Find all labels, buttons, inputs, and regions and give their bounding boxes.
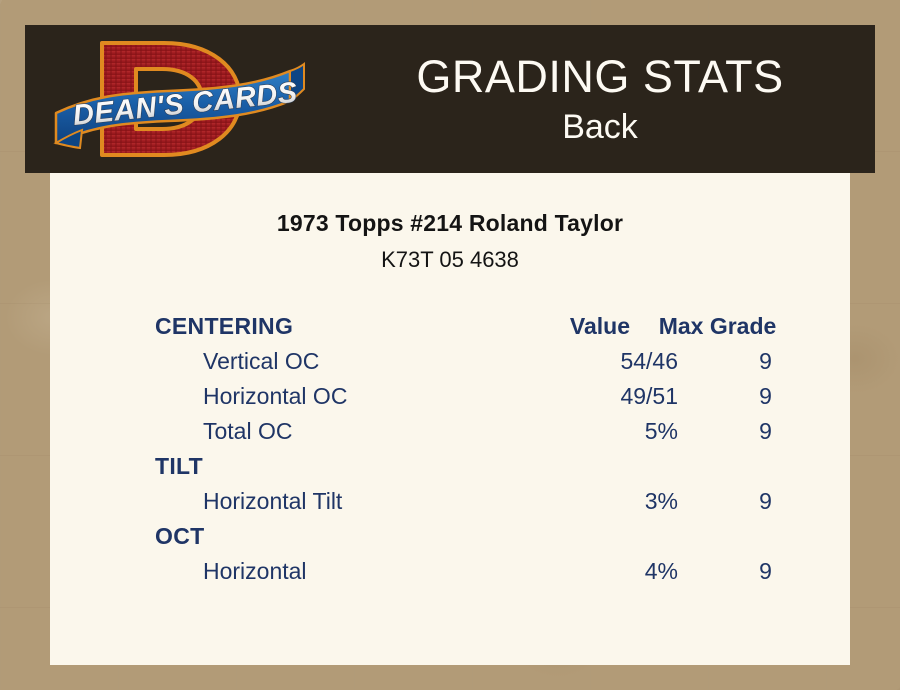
grading-stats-table: CENTERING Value Max Grade Vertical OC 54… [50,309,850,589]
row-value-total-oc: 5% [533,414,678,449]
page-subtitle: Back [562,106,638,148]
grading-stats-page: DEAN'S CARDS GRADING STATS Back 1973 Top… [0,0,900,690]
table-row: Horizontal 4% 9 [155,554,788,589]
page-title: GRADING STATS [416,50,783,104]
header-titles: GRADING STATS Back [325,25,875,173]
table-row: Horizontal Tilt 3% 9 [155,484,788,519]
table-section-tilt: TILT [155,449,788,484]
card-code: K73T 05 4638 [50,237,850,274]
row-value-horizontal-tilt: 3% [533,484,678,519]
header-bar: DEAN'S CARDS GRADING STATS Back [25,25,875,173]
column-header-value: Value [485,309,630,344]
row-grade-horizontal: 9 [678,554,853,589]
content-panel: 1973 Topps #214 Roland Taylor K73T 05 46… [50,173,850,665]
table-row: Total OC 5% 9 [155,414,788,449]
row-label-vertical-oc: Vertical OC [155,344,533,379]
row-value-horizontal: 4% [533,554,678,589]
table-row: Horizontal OC 49/51 9 [155,379,788,414]
table-section-oct: OCT [155,519,788,554]
card-title: 1973 Topps #214 Roland Taylor [50,173,850,237]
row-label-horizontal-tilt: Horizontal Tilt [155,484,533,519]
deans-cards-logo[interactable]: DEAN'S CARDS [50,27,318,171]
row-label-horizontal: Horizontal [155,554,533,589]
section-header-oct: OCT [155,519,485,554]
row-value-horizontal-oc: 49/51 [533,379,678,414]
row-value-vertical-oc: 54/46 [533,344,678,379]
section-header-tilt: TILT [155,449,485,484]
table-header-row: CENTERING Value Max Grade [155,309,788,344]
table-row: Vertical OC 54/46 9 [155,344,788,379]
row-label-horizontal-oc: Horizontal OC [155,379,533,414]
row-grade-vertical-oc: 9 [678,344,853,379]
row-grade-total-oc: 9 [678,414,853,449]
row-grade-horizontal-oc: 9 [678,379,853,414]
column-header-centering: CENTERING [155,309,485,344]
column-header-max-grade: Max Grade [630,309,805,344]
row-grade-horizontal-tilt: 9 [678,484,853,519]
row-label-total-oc: Total OC [155,414,533,449]
